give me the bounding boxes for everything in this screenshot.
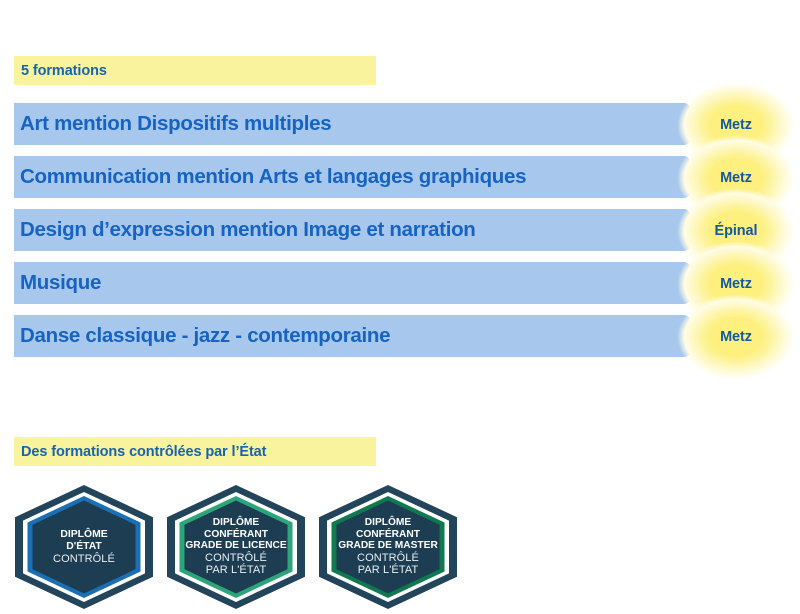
diploma-badge: DIPLÔMECONFÉRANTGRADE DE MASTERCONTRÔLÉP… <box>318 484 458 610</box>
formation-bar[interactable]: Communication mention Arts et langages g… <box>14 156 690 198</box>
formation-city-name: Metz <box>720 329 752 345</box>
formation-city-name: Metz <box>720 117 752 133</box>
formation-bar[interactable]: Design d’expression mention Image et nar… <box>14 209 690 251</box>
formation-name: Art mention Dispositifs multiples <box>20 112 331 136</box>
formation-name: Communication mention Arts et langages g… <box>20 165 526 189</box>
diploma-badges-row: DIPLÔMED'ÉTATCONTRÔLÉDIPLÔMECONFÉRANTGRA… <box>0 484 800 614</box>
diploma-badge: DIPLÔMECONFÉRANTGRADE DE LICENCECONTRÔLÉ… <box>166 484 306 610</box>
formation-bar[interactable]: Musique <box>14 262 690 304</box>
formation-city-name: Metz <box>720 276 752 292</box>
formations-list: Art mention Dispositifs multiplesMetzCom… <box>0 0 800 400</box>
formation-city-name: Metz <box>720 170 752 186</box>
formation-city-name: Épinal <box>715 223 758 239</box>
section-label-controlled-programs-text: Des formations contrôlées par l’État <box>21 444 266 460</box>
section-label-controlled-programs: Des formations contrôlées par l’État <box>14 437 376 466</box>
formation-bar[interactable]: Danse classique - jazz - contemporaine <box>14 315 690 357</box>
hexagon-shield-icon <box>318 484 458 610</box>
formation-name: Design d’expression mention Image et nar… <box>20 218 476 242</box>
formation-name: Musique <box>20 271 101 295</box>
hexagon-shield-icon <box>14 484 154 610</box>
formation-name: Danse classique - jazz - contemporaine <box>20 324 390 348</box>
formation-bar[interactable]: Art mention Dispositifs multiples <box>14 103 690 145</box>
hexagon-shield-icon <box>166 484 306 610</box>
formation-city-badge: Metz <box>670 291 800 383</box>
diploma-badge: DIPLÔMED'ÉTATCONTRÔLÉ <box>14 484 154 610</box>
